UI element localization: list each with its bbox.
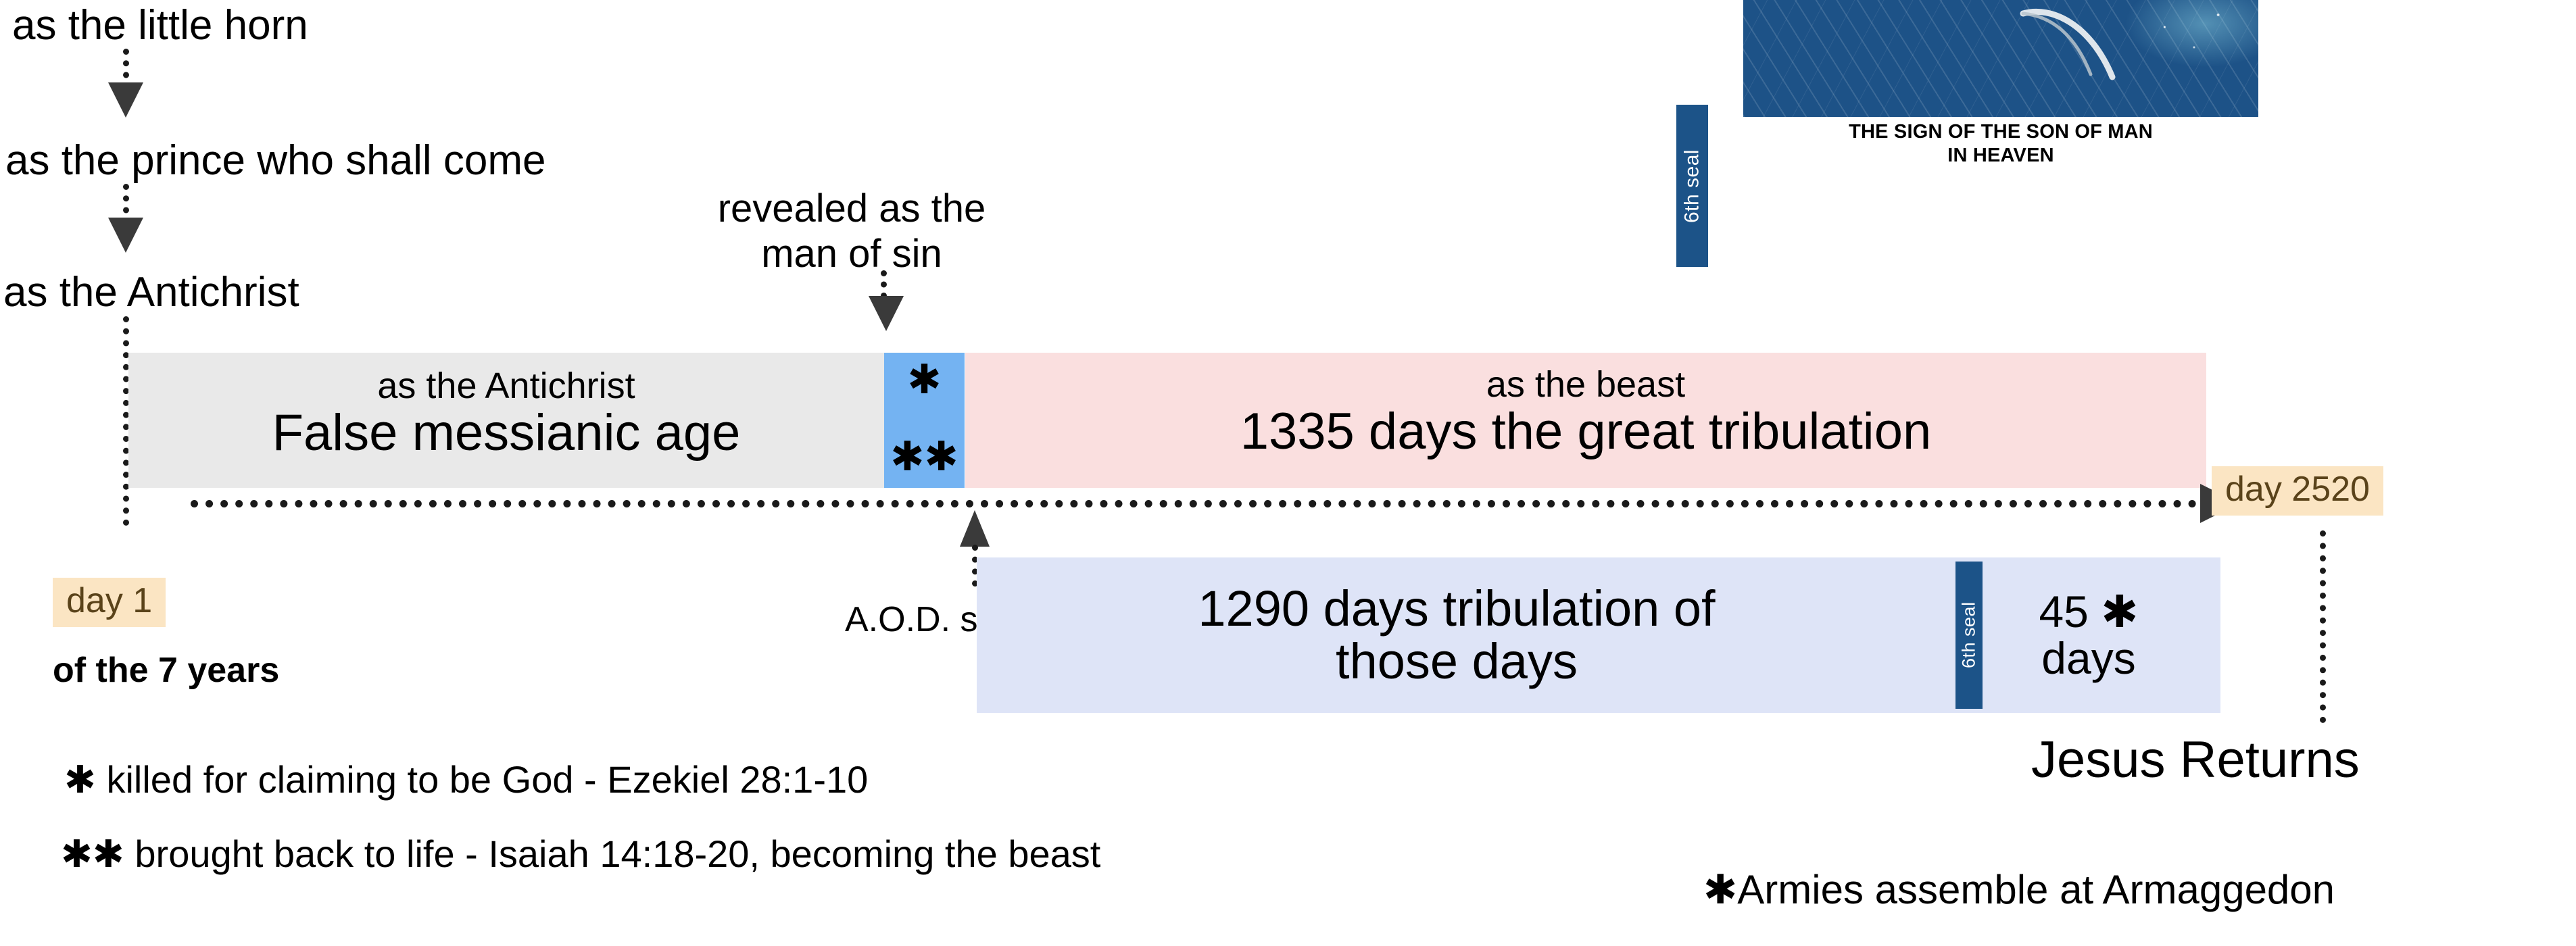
seal-tag-6th-seal-lower: 6th seal xyxy=(1955,562,1983,709)
arrow-down-icon-man-of-sin xyxy=(869,296,904,331)
label-little-horn: as the little horn xyxy=(12,3,308,47)
arrow-down-icon-1 xyxy=(108,82,143,118)
star-double-marker: ✱✱ xyxy=(890,437,958,477)
bar-1290-days-tribulation: 1290 days tribulation of those days 6th … xyxy=(977,557,2220,713)
label-45-days-line2: days xyxy=(2041,635,2135,682)
sickle-shape-icon xyxy=(2011,7,2139,82)
bar-pink-text: as the beast 1335 days the great tribula… xyxy=(965,353,2206,462)
label-of-the-7-years: of the 7 years xyxy=(53,652,279,689)
arrow-up-icon-aod xyxy=(960,510,990,547)
bar-pink-subtitle: as the beast xyxy=(965,366,2206,403)
label-45-days: 45 ✱ days xyxy=(1991,557,2187,713)
day-2520-badge: day 2520 xyxy=(2212,466,2383,516)
label-man-of-sin-line1: revealed as the xyxy=(676,186,1027,231)
arrow-down-icon-2 xyxy=(108,218,143,253)
seal-tag-6th-seal-top: 6th seal xyxy=(1676,105,1708,267)
footnote-armageddon: ✱Armies assemble at Armaggedon xyxy=(1703,868,2335,911)
bar-pink-title: 1335 days the great tribulation xyxy=(965,403,2206,462)
star-single-marker: ✱ xyxy=(907,359,941,400)
image-caption-line1: THE SIGN OF THE SON OF MAN xyxy=(1743,120,2258,144)
footnote-double-star: ✱✱ brought back to life - Isaiah 14:18-2… xyxy=(61,835,1100,874)
bar-death-resurrection-marker: ✱ ✱✱ xyxy=(884,353,965,488)
bar-lower-blue-text: 1290 days tribulation of those days xyxy=(977,557,1937,713)
bar-lower-line1: 1290 days tribulation of xyxy=(1198,582,1715,635)
day-1-badge: day 1 xyxy=(53,578,166,627)
heavenly-light-scene xyxy=(1743,0,2258,117)
bar-gray-title: False messianic age xyxy=(128,404,884,463)
timeline-dotted-axis xyxy=(191,500,2212,507)
label-prince-who-shall-come: as the prince who shall come xyxy=(5,139,546,182)
man-of-sin-connector-dots xyxy=(881,270,887,299)
image-caption: THE SIGN OF THE SON OF MAN IN HEAVEN xyxy=(1743,120,2258,168)
bar-lower-line2: those days xyxy=(1336,635,1578,688)
label-man-of-sin-line2: man of sin xyxy=(676,231,1027,276)
label-revealed-man-of-sin: revealed as the man of sin xyxy=(676,186,1027,277)
footnote-single-star: ✱ killed for claiming to be God - Ezekie… xyxy=(64,760,868,800)
bar-great-tribulation: as the beast 1335 days the great tribula… xyxy=(965,353,2206,488)
sign-of-son-of-man-image xyxy=(1743,0,2258,117)
bar-gray-subtitle: as the Antichrist xyxy=(128,368,884,404)
label-antichrist: as the Antichrist xyxy=(3,270,299,314)
bar-gray-text: as the Antichrist False messianic age xyxy=(128,353,884,463)
bar-false-messianic-age: as the Antichrist False messianic age xyxy=(128,353,884,488)
label-jesus-returns: Jesus Returns xyxy=(2031,733,2360,787)
image-caption-line2: IN HEAVEN xyxy=(1743,144,2258,168)
label-45-days-line1: 45 ✱ xyxy=(2039,589,2138,635)
end-marker-dotted-line xyxy=(2320,530,2326,723)
